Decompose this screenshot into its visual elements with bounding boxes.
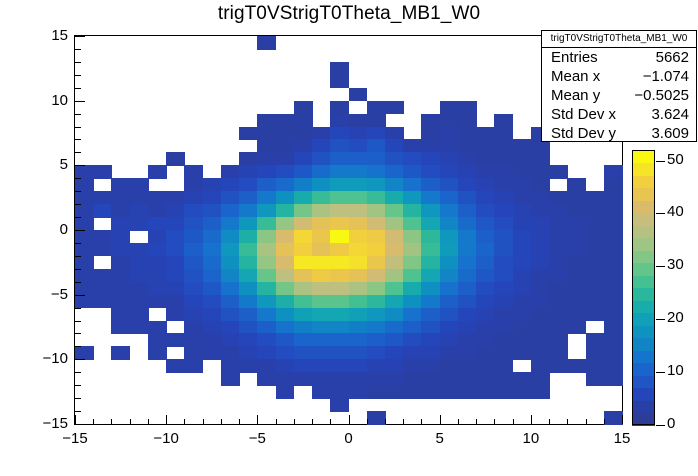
x-axis-minor-tick bbox=[586, 419, 587, 424]
heatmap-cell bbox=[312, 295, 331, 309]
heatmap-cell bbox=[385, 385, 404, 399]
heatmap-cell bbox=[111, 256, 130, 270]
heatmap-cell bbox=[203, 204, 222, 218]
heatmap-cell bbox=[166, 333, 185, 347]
heatmap-cell bbox=[385, 282, 404, 296]
heatmap-cell bbox=[349, 359, 368, 373]
heatmap-cell bbox=[276, 385, 295, 399]
heatmap-cell bbox=[440, 333, 459, 347]
y-axis-tick-label: −5 bbox=[6, 286, 68, 303]
heatmap-cell bbox=[330, 333, 349, 347]
color-palette-band bbox=[632, 238, 655, 251]
heatmap-cell bbox=[494, 372, 513, 386]
heatmap-cell bbox=[513, 256, 532, 270]
heatmap-cell bbox=[148, 230, 167, 244]
heatmap-cell bbox=[75, 191, 94, 205]
y-axis-tick-label: 10 bbox=[6, 92, 68, 109]
color-palette-band bbox=[632, 325, 655, 338]
heatmap-cell bbox=[586, 282, 605, 296]
y-axis-minor-tick bbox=[75, 282, 81, 283]
heatmap-cell bbox=[421, 217, 440, 231]
heatmap-cell bbox=[549, 165, 568, 179]
heatmap-cell bbox=[494, 191, 513, 205]
color-palette-tick-label: 10 bbox=[667, 362, 684, 379]
heatmap-cell bbox=[476, 191, 495, 205]
x-axis-minor-tick bbox=[549, 419, 550, 424]
color-palette-tick bbox=[656, 425, 665, 426]
heatmap-cell bbox=[349, 127, 368, 141]
heatmap-cell bbox=[75, 230, 94, 244]
heatmap-cell bbox=[440, 191, 459, 205]
heatmap-cell bbox=[421, 295, 440, 309]
heatmap-cell bbox=[440, 178, 459, 192]
statistics-row-key: Mean y bbox=[551, 86, 600, 105]
statistics-row: Std Dev y3.609 bbox=[542, 124, 696, 143]
heatmap-cell bbox=[513, 178, 532, 192]
x-axis-minor-tick bbox=[604, 419, 605, 424]
heatmap-cell bbox=[403, 139, 422, 153]
x-axis-minor-tick bbox=[567, 419, 568, 424]
heatmap-cell bbox=[294, 204, 313, 218]
heatmap-cell bbox=[312, 139, 331, 153]
heatmap-cell bbox=[385, 321, 404, 335]
heatmap-cell bbox=[440, 308, 459, 322]
heatmap-cell bbox=[294, 165, 313, 179]
heatmap-cell bbox=[403, 346, 422, 360]
heatmap-cell bbox=[385, 295, 404, 309]
heatmap-cell bbox=[531, 308, 550, 322]
y-axis-minor-tick bbox=[75, 75, 81, 76]
heatmap-cell bbox=[166, 217, 185, 231]
heatmap-cell bbox=[276, 204, 295, 218]
color-palette-band bbox=[632, 388, 655, 401]
heatmap-cell bbox=[421, 385, 440, 399]
heatmap-cell bbox=[494, 346, 513, 360]
heatmap-cell bbox=[403, 282, 422, 296]
heatmap-cell bbox=[111, 217, 130, 231]
y-axis-minor-tick bbox=[75, 346, 81, 347]
heatmap-cell bbox=[440, 256, 459, 270]
statistics-rows: Entries5662Mean x−1.074Mean y−0.5025Std … bbox=[542, 48, 696, 143]
heatmap-cell bbox=[221, 282, 240, 296]
heatmap-cell bbox=[276, 230, 295, 244]
y-axis-tick-label: 0 bbox=[6, 221, 68, 238]
heatmap-cell bbox=[367, 139, 386, 153]
y-axis-minor-tick bbox=[75, 411, 81, 412]
heatmap-cell bbox=[531, 178, 550, 192]
heatmap-cell bbox=[221, 165, 240, 179]
heatmap-cell bbox=[531, 269, 550, 283]
heatmap-cell bbox=[93, 165, 112, 179]
heatmap-cell bbox=[330, 101, 349, 115]
color-palette-band bbox=[632, 200, 655, 213]
heatmap-cell bbox=[385, 372, 404, 386]
heatmap-cell bbox=[458, 346, 477, 360]
heatmap-cell bbox=[549, 243, 568, 257]
y-axis-minor-tick bbox=[75, 152, 81, 153]
heatmap-cell bbox=[531, 372, 550, 386]
heatmap-cell bbox=[349, 282, 368, 296]
x-axis-tick-label: 15 bbox=[592, 430, 652, 447]
heatmap-cell bbox=[166, 269, 185, 283]
heatmap-cell bbox=[203, 230, 222, 244]
heatmap-cell bbox=[111, 230, 130, 244]
heatmap-cell bbox=[513, 295, 532, 309]
heatmap-cell bbox=[239, 127, 258, 141]
heatmap-cell bbox=[476, 282, 495, 296]
y-axis-tick-label: −15 bbox=[6, 415, 68, 432]
color-palette-band bbox=[632, 338, 655, 351]
heatmap-cell bbox=[203, 346, 222, 360]
heatmap-cell bbox=[276, 165, 295, 179]
statistics-row-key: Std Dev x bbox=[551, 105, 616, 124]
heatmap-cell bbox=[221, 321, 240, 335]
heatmap-cell bbox=[184, 178, 203, 192]
heatmap-cell bbox=[586, 333, 605, 347]
heatmap-cell bbox=[239, 321, 258, 335]
heatmap-cell bbox=[294, 243, 313, 257]
heatmap-cell bbox=[330, 346, 349, 360]
heatmap-cell bbox=[276, 114, 295, 128]
heatmap-cell bbox=[294, 101, 313, 115]
color-palette-band bbox=[632, 363, 655, 376]
heatmap-cell bbox=[239, 359, 258, 373]
heatmap-cell bbox=[458, 178, 477, 192]
heatmap-cell bbox=[148, 282, 167, 296]
heatmap-cell bbox=[440, 165, 459, 179]
heatmap-cell bbox=[330, 359, 349, 373]
heatmap-cell bbox=[312, 282, 331, 296]
heatmap-cell bbox=[294, 139, 313, 153]
color-palette-band bbox=[632, 288, 655, 301]
heatmap-cell bbox=[294, 346, 313, 360]
heatmap-cell bbox=[513, 165, 532, 179]
x-axis-minor-tick bbox=[367, 419, 368, 424]
heatmap-cell bbox=[111, 243, 130, 257]
heatmap-cell bbox=[440, 385, 459, 399]
statistics-row-value: −0.5025 bbox=[634, 86, 689, 105]
heatmap-cell bbox=[93, 230, 112, 244]
heatmap-cell bbox=[567, 321, 586, 335]
heatmap-cell bbox=[130, 204, 149, 218]
heatmap-cell bbox=[166, 230, 185, 244]
y-axis-minor-tick bbox=[75, 385, 81, 386]
heatmap-cell bbox=[184, 359, 203, 373]
heatmap-cell bbox=[349, 385, 368, 399]
heatmap-cell bbox=[330, 165, 349, 179]
heatmap-cell bbox=[221, 230, 240, 244]
heatmap-cell bbox=[111, 269, 130, 283]
heatmap-cell bbox=[403, 295, 422, 309]
heatmap-cell bbox=[221, 295, 240, 309]
heatmap-cell bbox=[476, 333, 495, 347]
heatmap-cell bbox=[385, 346, 404, 360]
heatmap-cell bbox=[111, 321, 130, 335]
heatmap-cell bbox=[330, 372, 349, 386]
heatmap-cell bbox=[531, 217, 550, 231]
heatmap-cell bbox=[75, 204, 94, 218]
heatmap-cell bbox=[294, 372, 313, 386]
heatmap-cell bbox=[75, 178, 94, 192]
x-axis-tick-label: −10 bbox=[136, 430, 196, 447]
heatmap-cell bbox=[276, 333, 295, 347]
heatmap-cell bbox=[312, 269, 331, 283]
heatmap-cell bbox=[257, 139, 276, 153]
heatmap-cell bbox=[184, 308, 203, 322]
heatmap-cell bbox=[276, 127, 295, 141]
y-axis-major-tick bbox=[75, 359, 85, 360]
heatmap-cell bbox=[549, 359, 568, 373]
heatmap-cell bbox=[421, 346, 440, 360]
heatmap-cell bbox=[221, 243, 240, 257]
heatmap-cell bbox=[257, 191, 276, 205]
heatmap-cell bbox=[476, 372, 495, 386]
heatmap-cell bbox=[367, 191, 386, 205]
y-axis-minor-tick bbox=[75, 204, 81, 205]
heatmap-cell bbox=[494, 127, 513, 141]
heatmap-cell bbox=[312, 346, 331, 360]
heatmap-cell bbox=[476, 269, 495, 283]
heatmap-cell bbox=[184, 191, 203, 205]
heatmap-cell bbox=[549, 282, 568, 296]
heatmap-cell bbox=[257, 295, 276, 309]
heatmap-cell bbox=[567, 308, 586, 322]
heatmap-cell bbox=[476, 295, 495, 309]
heatmap-cell bbox=[349, 178, 368, 192]
heatmap-cell bbox=[385, 127, 404, 141]
heatmap-cell bbox=[111, 295, 130, 309]
heatmap-cell bbox=[349, 243, 368, 257]
heatmap-cell bbox=[349, 165, 368, 179]
x-axis-minor-tick bbox=[421, 419, 422, 424]
heatmap-cell bbox=[531, 333, 550, 347]
heatmap-cell bbox=[531, 243, 550, 257]
heatmap-cell bbox=[440, 230, 459, 244]
heatmap-cell bbox=[513, 333, 532, 347]
heatmap-cell bbox=[221, 204, 240, 218]
heatmap-cell bbox=[604, 256, 623, 270]
heatmap-cell bbox=[494, 243, 513, 257]
heatmap-cell bbox=[604, 178, 623, 192]
heatmap-cell bbox=[349, 308, 368, 322]
y-axis-minor-tick bbox=[75, 269, 81, 270]
heatmap-cell bbox=[421, 269, 440, 283]
heatmap-cell bbox=[458, 385, 477, 399]
heatmap-cell bbox=[403, 191, 422, 205]
heatmap-cell bbox=[221, 191, 240, 205]
heatmap-cell bbox=[111, 191, 130, 205]
heatmap-cell bbox=[330, 230, 349, 244]
heatmap-cell bbox=[403, 243, 422, 257]
heatmap-cell bbox=[421, 230, 440, 244]
heatmap-cell bbox=[257, 372, 276, 386]
heatmap-cell bbox=[349, 152, 368, 166]
heatmap-cell bbox=[294, 295, 313, 309]
heatmap-cell bbox=[421, 204, 440, 218]
heatmap-cell bbox=[513, 321, 532, 335]
heatmap-cell bbox=[330, 204, 349, 218]
heatmap-cell bbox=[567, 204, 586, 218]
heatmap-cell bbox=[349, 321, 368, 335]
heatmap-cell bbox=[294, 114, 313, 128]
x-axis-tick-label: 5 bbox=[410, 430, 470, 447]
heatmap-cell bbox=[130, 308, 149, 322]
heatmap-cell bbox=[367, 204, 386, 218]
heatmap-cell bbox=[604, 230, 623, 244]
heatmap-cell bbox=[385, 165, 404, 179]
heatmap-cell bbox=[203, 282, 222, 296]
heatmap-cell bbox=[476, 321, 495, 335]
page-title: trigT0VStrigT0Theta_MB1_W0 bbox=[0, 3, 698, 25]
heatmap-cell bbox=[604, 333, 623, 347]
heatmap-cell bbox=[458, 372, 477, 386]
heatmap-cell bbox=[604, 359, 623, 373]
statistics-row-key: Entries bbox=[551, 48, 598, 67]
heatmap-cell bbox=[367, 243, 386, 257]
heatmap-cell bbox=[239, 308, 258, 322]
color-palette-tick bbox=[656, 213, 665, 214]
heatmap-cell bbox=[458, 217, 477, 231]
heatmap-cell bbox=[367, 165, 386, 179]
heatmap-cell bbox=[421, 127, 440, 141]
y-axis-minor-tick bbox=[75, 321, 81, 322]
heatmap-cell bbox=[294, 217, 313, 231]
heatmap-cell bbox=[111, 204, 130, 218]
heatmap-cell bbox=[184, 230, 203, 244]
x-axis-minor-tick bbox=[93, 419, 94, 424]
heatmap-cell bbox=[476, 256, 495, 270]
heatmap-cell bbox=[403, 308, 422, 322]
color-palette-band bbox=[632, 263, 655, 276]
heatmap-cell bbox=[567, 191, 586, 205]
y-axis-minor-tick bbox=[75, 398, 81, 399]
y-axis-minor-tick bbox=[75, 49, 81, 50]
heatmap-cell bbox=[203, 295, 222, 309]
heatmap-cell bbox=[294, 321, 313, 335]
heatmap-cell bbox=[367, 127, 386, 141]
statistics-row-value: −1.074 bbox=[643, 67, 689, 86]
heatmap-cell bbox=[239, 204, 258, 218]
heatmap-cell bbox=[476, 165, 495, 179]
heatmap-cell bbox=[349, 191, 368, 205]
heatmap-cell bbox=[494, 359, 513, 373]
heatmap-cell bbox=[476, 359, 495, 373]
heatmap-cell bbox=[476, 204, 495, 218]
x-axis-minor-tick bbox=[294, 419, 295, 424]
heatmap-cell bbox=[440, 372, 459, 386]
root-canvas: trigT0VStrigT0Theta_MB1_W0 −15−10−505101… bbox=[0, 0, 698, 476]
heatmap-cell bbox=[294, 359, 313, 373]
heatmap-cell bbox=[421, 114, 440, 128]
heatmap-cell bbox=[476, 243, 495, 257]
heatmap-cell bbox=[367, 256, 386, 270]
heatmap-cell bbox=[458, 295, 477, 309]
heatmap-cell bbox=[166, 308, 185, 322]
heatmap-cell bbox=[367, 269, 386, 283]
y-axis-major-tick bbox=[75, 165, 85, 166]
heatmap-cell bbox=[148, 321, 167, 335]
heatmap-cell bbox=[549, 321, 568, 335]
heatmap-cell bbox=[330, 243, 349, 257]
heatmap-cell bbox=[385, 359, 404, 373]
heatmap-cell bbox=[312, 385, 331, 399]
heatmap-cell bbox=[513, 269, 532, 283]
heatmap-cell bbox=[440, 204, 459, 218]
heatmap-cell bbox=[257, 243, 276, 257]
heatmap-cell bbox=[330, 308, 349, 322]
heatmap-cell bbox=[367, 101, 386, 115]
heatmap-cell bbox=[421, 372, 440, 386]
heatmap-cell bbox=[421, 191, 440, 205]
x-axis-major-tick bbox=[257, 415, 258, 424]
heatmap-cell bbox=[403, 256, 422, 270]
heatmap-cell bbox=[312, 308, 331, 322]
heatmap-cell bbox=[494, 282, 513, 296]
color-palette-tick-label: 50 bbox=[667, 151, 684, 168]
heatmap-cell bbox=[257, 127, 276, 141]
heatmap-cell bbox=[349, 88, 368, 102]
heatmap-cell bbox=[494, 114, 513, 128]
color-palette-tick-label: 30 bbox=[667, 256, 684, 273]
y-axis-minor-tick bbox=[75, 88, 81, 89]
heatmap-cell bbox=[367, 114, 386, 128]
heatmap-cell bbox=[403, 269, 422, 283]
heatmap-cell bbox=[276, 321, 295, 335]
color-palette-band bbox=[632, 350, 655, 363]
heatmap-cell bbox=[312, 359, 331, 373]
heatmap-cell bbox=[586, 269, 605, 283]
heatmap-cell bbox=[257, 256, 276, 270]
heatmap-cell bbox=[166, 152, 185, 166]
heatmap-cell bbox=[312, 178, 331, 192]
color-palette-band bbox=[632, 225, 655, 238]
x-axis-minor-tick bbox=[184, 419, 185, 424]
heatmap-cell bbox=[276, 295, 295, 309]
heatmap-cell bbox=[531, 152, 550, 166]
heatmap-cell bbox=[330, 398, 349, 412]
heatmap-cell bbox=[166, 295, 185, 309]
heatmap-cell bbox=[604, 372, 623, 386]
heatmap-cell bbox=[531, 321, 550, 335]
heatmap-cell bbox=[567, 256, 586, 270]
color-palette-band bbox=[632, 300, 655, 313]
heatmap-cell bbox=[257, 333, 276, 347]
heatmap-cell bbox=[531, 256, 550, 270]
x-axis-major-tick bbox=[75, 415, 76, 424]
heatmap-cell bbox=[276, 139, 295, 153]
color-palette-band bbox=[632, 413, 655, 426]
heatmap-cell bbox=[130, 321, 149, 335]
heatmap-cell bbox=[257, 178, 276, 192]
heatmap-cell bbox=[221, 178, 240, 192]
heatmap-cell bbox=[403, 165, 422, 179]
heatmap-cell bbox=[349, 114, 368, 128]
heatmap-cell bbox=[531, 385, 550, 399]
x-axis-minor-tick bbox=[385, 419, 386, 424]
heatmap-cell bbox=[330, 282, 349, 296]
heatmap-cell bbox=[367, 372, 386, 386]
heatmap-cell bbox=[531, 191, 550, 205]
statistics-row-value: 5662 bbox=[656, 48, 689, 67]
heatmap-cell bbox=[349, 230, 368, 244]
heatmap-cell bbox=[184, 269, 203, 283]
heatmap-cell bbox=[330, 62, 349, 76]
heatmap-cell bbox=[513, 346, 532, 360]
x-axis-major-tick bbox=[440, 415, 441, 424]
heatmap-cell bbox=[203, 308, 222, 322]
heatmap-cell bbox=[239, 230, 258, 244]
color-palette-tick-label: 40 bbox=[667, 203, 684, 220]
